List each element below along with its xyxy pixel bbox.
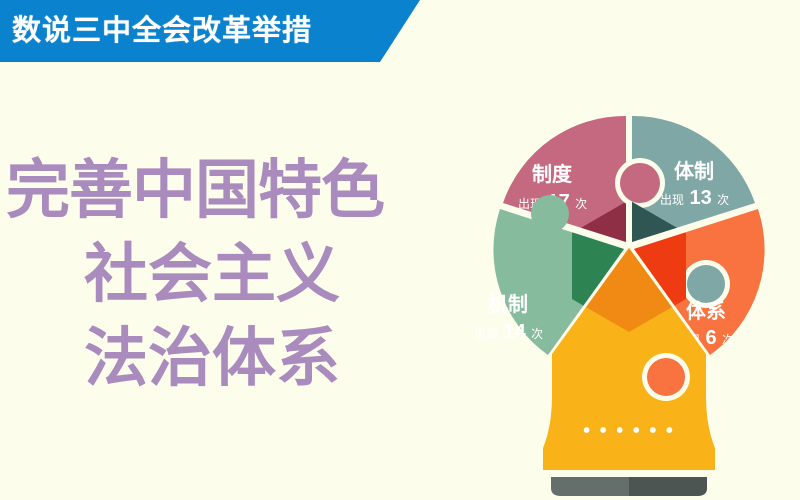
piece-tixi-label: 体系 xyxy=(686,299,726,323)
bulb-screw-base xyxy=(551,477,707,496)
piece-tizhi-unit: 次 xyxy=(717,193,729,207)
piece-ellipsis-label: • • • • • • xyxy=(583,420,675,442)
piece-jizhi-knob xyxy=(531,195,569,233)
puzzle-lightbulb-diagram: 制度 出现 17 次 体制 出现 13 次 xyxy=(440,96,800,500)
piece-ellipsis-knob xyxy=(571,360,609,398)
header-banner: 数说三中全会改革举措 xyxy=(0,0,420,62)
piece-zhidu-unit: 次 xyxy=(575,197,587,211)
piece-jizhi-count: 14 xyxy=(503,321,526,343)
piece-jizhi-unit: 次 xyxy=(531,327,543,341)
piece-tizhi-socket-neck xyxy=(624,174,637,192)
piece-tizhi-count: 13 xyxy=(689,187,711,209)
banner-title: 数说三中全会改革举措 xyxy=(0,17,312,46)
piece-tixi-socket-fill xyxy=(687,265,725,303)
page-title: 完善中国特色 社会主义 法治体系 xyxy=(0,148,470,400)
piece-jizhi-label: 机制 xyxy=(488,292,528,316)
piece-tixi-count: 6 xyxy=(705,327,716,349)
piece-ellipsis-socket-fill xyxy=(647,358,685,396)
page-title-line-3: 法治体系 xyxy=(0,316,470,400)
infographic-canvas: 数说三中全会改革举措 完善中国特色 社会主义 法治体系 xyxy=(0,0,800,500)
base-right-half xyxy=(629,477,707,496)
page-title-line-1: 完善中国特色 xyxy=(0,148,470,232)
piece-tizhi-label: 体制 xyxy=(674,159,714,183)
piece-jizhi-prefix: 出现 xyxy=(474,327,498,341)
piece-tizhi-prefix: 出现 xyxy=(660,193,684,207)
page-title-line-2: 社会主义 xyxy=(0,232,470,316)
piece-zhidu-label: 制度 xyxy=(532,162,573,186)
piece-tixi-unit: 次 xyxy=(722,333,734,347)
